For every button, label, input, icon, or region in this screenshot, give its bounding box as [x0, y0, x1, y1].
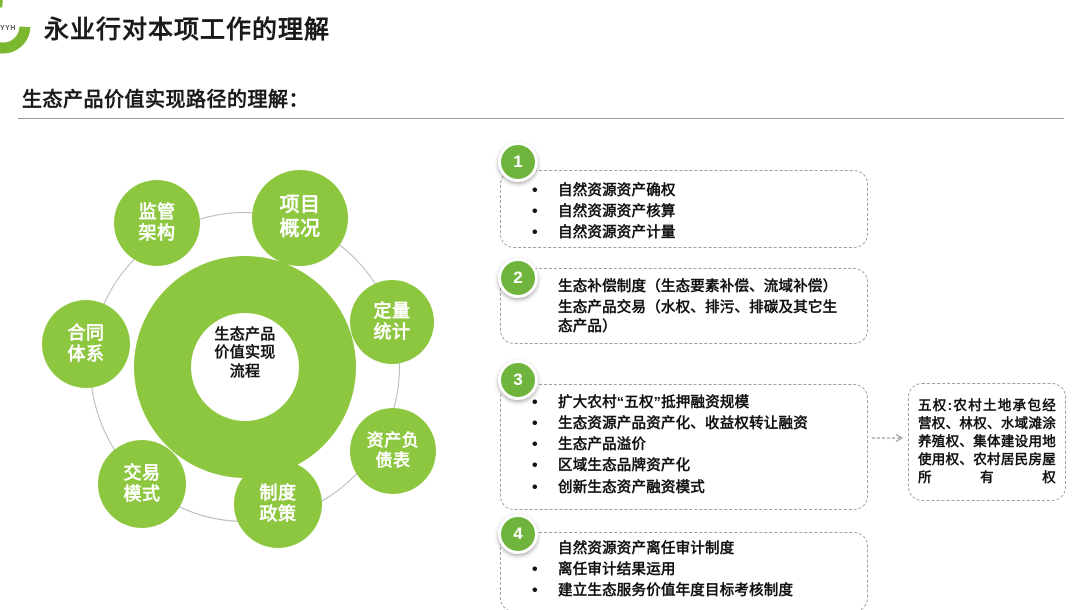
bubble-zhidu[interactable]: 制度 政策	[234, 460, 322, 548]
list-item: • 生态产品交易（水权、排污、排碳及其它生 态产品）	[532, 297, 837, 337]
list-item-text: 建立生态服务价值年度目标考核制度	[558, 582, 793, 601]
bullet-dot: •	[532, 180, 558, 201]
step-2-list: • 生态补偿制度（生态要素补偿、流域补偿） • 生态产品交易（水权、排污、排碳及…	[532, 276, 837, 337]
bubble-hetong[interactable]: 合同 体系	[42, 300, 130, 388]
bubble-dingliang[interactable]: 定量 统计	[350, 280, 434, 364]
list-item: • 生态产品溢价	[532, 434, 808, 455]
bubble-xiangmu[interactable]: 项目 概况	[252, 170, 348, 266]
list-item-text: 生态资源产品资产化、收益权转让融资	[558, 415, 808, 434]
bullet-dot: •	[532, 559, 558, 580]
list-item: • 建立生态服务价值年度目标考核制度	[532, 580, 793, 601]
list-item-text: 生态补偿制度（生态要素补偿、流域补偿）	[558, 278, 837, 297]
list-item: • 自然资源资产核算	[532, 201, 676, 222]
bullet-dot: •	[532, 201, 558, 222]
diagram-center-label: 生态产品 价值实现 流程	[185, 326, 305, 381]
list-item: • 生态资源产品资产化、收益权转让融资	[532, 413, 808, 434]
step-1-number[interactable]: 1	[498, 142, 538, 182]
step-1-list: • 自然资源资产确权 • 自然资源资产核算 • 自然资源资产计量	[532, 180, 676, 243]
bubble-zichan[interactable]: 资产负 债表	[350, 408, 436, 494]
bullet-dot: •	[532, 580, 558, 601]
list-item-text: 生态产品交易（水权、排污、排碳及其它生 态产品）	[558, 299, 837, 337]
annotation-text: 五权:农村土地承包经营权、林权、水域滩涂养殖权、集体建设用地使用权、农村居民房屋…	[909, 397, 1065, 487]
page-title: 永业行对本项工作的理解	[44, 10, 330, 46]
list-item-text: 自然资源资产离任审计制度	[558, 540, 734, 559]
bubble-jiaoyi[interactable]: 交易 模式	[98, 440, 186, 528]
step-3-number[interactable]: 3	[498, 360, 538, 400]
list-item: • 创新生态资产融资模式	[532, 477, 808, 498]
list-item: • 离任审计结果运用	[532, 559, 793, 580]
list-item: • 区域生态品牌资产化	[532, 455, 808, 476]
step-2-number[interactable]: 2	[498, 258, 538, 298]
bubble-jianguan[interactable]: 监管 架构	[114, 180, 200, 266]
list-item: • 生态补偿制度（生态要素补偿、流域补偿）	[532, 276, 837, 297]
bullet-dot: •	[532, 455, 558, 476]
bullet-dot: •	[532, 392, 558, 413]
step-4-list: • 自然资源资产离任审计制度 • 离任审计结果运用 • 建立生态服务价值年度目标…	[532, 538, 793, 601]
list-item-text: 自然资源资产计量	[558, 224, 676, 243]
list-item: • 自然资源资产离任审计制度	[532, 538, 793, 559]
slide-root: YYH 永业行对本项工作的理解 生态产品价值实现路径的理解： 生态产品 价值实现…	[0, 0, 1080, 610]
bullet-dot: •	[532, 477, 558, 498]
list-item-text: 自然资源资产确权	[558, 182, 676, 201]
bullet-dot: •	[532, 222, 558, 243]
list-item-text: 自然资源资产核算	[558, 203, 676, 222]
bullet-dot: •	[532, 413, 558, 434]
annotation-box: 五权:农村土地承包经营权、林权、水域滩涂养殖权、集体建设用地使用权、农村居民房屋…	[908, 383, 1066, 501]
section-subtitle: 生态产品价值实现路径的理解：	[22, 83, 309, 112]
list-item-text: 生态产品溢价	[558, 436, 646, 455]
list-item-text: 创新生态资产融资模式	[558, 479, 705, 498]
step-4-number[interactable]: 4	[498, 514, 538, 554]
list-item: • 自然资源资产计量	[532, 222, 676, 243]
list-item-text: 区域生态品牌资产化	[558, 457, 690, 476]
circular-process-diagram: 生态产品 价值实现 流程 监管 架构 项目 概况 定量 统计 资产负 债表 制度…	[30, 160, 460, 580]
bullet-dot: •	[532, 434, 558, 455]
list-item-text: 扩大农村“五权”抵押融资规模	[558, 394, 749, 413]
step-3-list: • 扩大农村“五权”抵押融资规模 • 生态资源产品资产化、收益权转让融资 • 生…	[532, 392, 808, 498]
logo-wordmark: YYH	[0, 22, 22, 36]
list-item-text: 离任审计结果运用	[558, 561, 676, 580]
list-item: • 自然资源资产确权	[532, 180, 676, 201]
annotation-arrow-icon	[872, 433, 908, 443]
list-item: • 扩大农村“五权”抵押融资规模	[532, 392, 808, 413]
subtitle-divider	[18, 118, 1064, 119]
